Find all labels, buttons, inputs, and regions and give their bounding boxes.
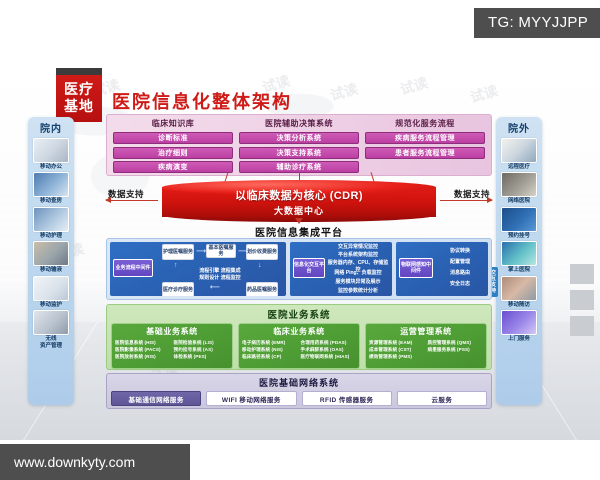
- list-item[interactable]: 医疗物联网系统 (HIAS): [301, 353, 357, 360]
- list-item[interactable]: 成本管理系统 (CST): [369, 346, 425, 353]
- decision-chip[interactable]: 治疗细则: [113, 147, 233, 159]
- online-hospital-icon: [501, 172, 537, 197]
- sidebar-item-label: 远程医疗: [499, 164, 539, 170]
- right-data-support-label: 数据支持: [454, 188, 490, 200]
- square: [570, 316, 594, 336]
- list-item[interactable]: 移动护理系统 (NIS): [242, 346, 298, 353]
- sidebar-item-mobile-office[interactable]: 移动办公: [31, 138, 71, 170]
- monitor-line: 网络 Ping、负载监控: [326, 270, 390, 277]
- iot-line: 安全日志: [434, 281, 486, 288]
- cdr-cylinder: 以临床数据为核心 (CDR) 大数据中心: [162, 180, 436, 222]
- group-heading: 临床业务系统: [242, 326, 356, 337]
- sidebar-item-mobile-rounds[interactable]: 移动查房: [31, 172, 71, 204]
- list-item[interactable]: 绩效管理系统 (PMS): [369, 353, 425, 360]
- nurse-care-icon: [33, 207, 69, 232]
- system-list-left: 医院信息系统 (HIS) 医院影像系统 (PACS) 医院放射系统 (RIS): [115, 339, 171, 360]
- right-panel-outside-hospital: 交互支持 院外 远程医疗 网络医院 预约挂号 掌上医院 移动随访: [496, 117, 542, 405]
- sidebar-item-online-hospital[interactable]: 网络医院: [499, 172, 539, 204]
- telemedicine-icon: [501, 138, 537, 163]
- decision-chip[interactable]: 决策分析系统: [239, 132, 359, 144]
- logo-badge: 医疗 基地: [56, 74, 102, 122]
- sidebar-item-label: 预约挂号: [499, 233, 539, 239]
- business-systems-layer: 医院业务系统 基础业务系统 医院信息系统 (HIS) 医院影像系统 (PACS)…: [106, 304, 492, 370]
- sidebar-item-mobile-nursing[interactable]: 移动护理: [31, 207, 71, 239]
- list-item[interactable]: 病患服务系统 (PSS): [428, 346, 484, 353]
- left-panel-inside-hospital: 院内 移动办公 移动查房 移动护理 移动输液 移动监护: [28, 117, 74, 405]
- process-middleware-box: 业务流程中间件 护理医嘱服务 基本医嘱服务 划价收费服务 药品医嘱服务 医疗诊疗…: [110, 242, 286, 296]
- decision-column-service-process: 规范化服务流程 疾病服务流程管理 患者服务流程管理: [365, 118, 485, 172]
- monitor-line: 服务模块异常及展示: [326, 279, 390, 286]
- badge-line-2: 基地: [64, 98, 94, 115]
- home-service-icon: [501, 310, 537, 335]
- list-item[interactable]: 手术麻醉系统 (OAS): [301, 346, 357, 353]
- group-basic-business-systems: 基础业务系统 医院信息系统 (HIS) 医院影像系统 (PACS) 医院放射系统…: [111, 323, 233, 369]
- sidebar-item-telemedicine[interactable]: 远程医疗: [499, 138, 539, 170]
- network-item-basic-communication[interactable]: 基础通信网络服务: [111, 391, 201, 406]
- sidebar-item-mobile-monitoring[interactable]: 移动监护: [31, 276, 71, 308]
- sidebar-item-label: 移动查房: [31, 198, 71, 204]
- network-infrastructure-layer: 医院基础网络系统 基础通信网络服务 WIFI 移动网络服务 RFID 传感器服务…: [106, 373, 492, 409]
- sidebar-item-appointment[interactable]: 预约挂号: [499, 207, 539, 239]
- appointment-icon: [501, 207, 537, 232]
- site-url-watermark: www.downkyty.com: [0, 444, 190, 480]
- decision-chip[interactable]: 诊断标准: [113, 132, 233, 144]
- column-heading: 临床知识库: [152, 118, 195, 129]
- sidebar-item-label: 掌上医院: [499, 267, 539, 273]
- monitoring-icon: [33, 276, 69, 301]
- group-operation-management-systems: 运营管理系统 资源管理系统 (EAM) 成本管理系统 (CST) 绩效管理系统 …: [365, 323, 487, 369]
- integration-platform-layer: 业务流程中间件 护理医嘱服务 基本医嘱服务 划价收费服务 药品医嘱服务 医疗诊疗…: [106, 238, 492, 300]
- arrow-down-icon: ↓: [258, 262, 262, 269]
- system-list-right: 医院检验系统 (LIS) 预约挂号系统 (AS) 体检系统 (PES): [174, 339, 230, 360]
- arrow-right-icon: ⟶: [196, 247, 206, 255]
- monitor-line: 交互异常情况监控: [326, 244, 390, 251]
- list-item[interactable]: 预约挂号系统 (AS): [174, 346, 230, 353]
- badge-line-1: 医疗: [64, 81, 94, 98]
- network-layer-title: 医院基础网络系统: [111, 376, 487, 389]
- square: [570, 290, 594, 310]
- system-list-right: 质控管理系统 (QMS) 病患服务系统 (PSS): [428, 339, 484, 360]
- sidebar-item-label: 移动监护: [31, 302, 71, 308]
- decision-chip[interactable]: 决策支持系统: [239, 147, 359, 159]
- cdr-title: 以临床数据为核心 (CDR): [162, 187, 436, 203]
- tablet-hand-icon: [33, 138, 69, 163]
- iot-line: 配置管理: [434, 259, 486, 266]
- sidebar-item-label: 移动办公: [31, 164, 71, 170]
- iot-line: 协议转换: [434, 248, 486, 255]
- list-item[interactable]: 资源管理系统 (EAM): [369, 339, 425, 346]
- list-item[interactable]: 医院放射系统 (RIS): [115, 353, 171, 360]
- sidebar-item-label: 移动护理: [31, 233, 71, 239]
- decision-chip[interactable]: 患者服务流程管理: [365, 147, 485, 159]
- system-list-right: 合理用药系统 (PDAS) 手术麻醉系统 (OAS) 医疗物联网系统 (HIAS…: [301, 339, 357, 360]
- column-heading: 医院辅助决策系统: [265, 118, 333, 129]
- list-item[interactable]: 体检系统 (PES): [174, 353, 230, 360]
- medical-treatment-service-node[interactable]: 医疗诊疗服务: [162, 282, 194, 296]
- sidebar-item-label: 上门服务: [499, 336, 539, 342]
- column-heading: 规范化服务流程: [395, 118, 455, 129]
- interaction-platform-box: 信息化交互平台 交互异常情况监控 平台系统架构监控 服务器内存、CPU、存储监控…: [290, 242, 392, 296]
- arrow-up-icon: ↑: [174, 262, 178, 269]
- group-clinical-business-systems: 临床业务系统 电子病历系统 (EMR) 移动护理系统 (NIS) 临床路径系统 …: [238, 323, 360, 369]
- basic-order-service-node[interactable]: 基本医嘱服务: [206, 244, 236, 258]
- business-process-middleware-chip[interactable]: 业务流程中间件: [113, 259, 153, 277]
- iot-line: 消息路由: [434, 270, 486, 277]
- group-heading: 运营管理系统: [369, 326, 483, 337]
- business-layer-title: 医院业务系统: [111, 307, 487, 321]
- decision-chip[interactable]: 疾病演变: [113, 161, 233, 173]
- wireless-asset-icon: [33, 310, 69, 335]
- network-item-rfid[interactable]: RFID 传感器服务: [302, 391, 392, 406]
- arrow-right-icon: ⟶: [238, 247, 248, 255]
- tg-watermark-tag: TG: MYYJJPP: [474, 8, 600, 38]
- list-item[interactable]: 电子病历系统 (EMR): [242, 339, 298, 346]
- list-item[interactable]: 医院信息系统 (HIS): [115, 339, 171, 346]
- left-data-support-label: 数据支持: [108, 188, 144, 200]
- slide-body: 试读 试读 试读 试读 试读 试读 试读 医疗 基地 医院信息化整体架构 院内 …: [0, 62, 600, 440]
- system-list-left: 资源管理系统 (EAM) 成本管理系统 (CST) 绩效管理系统 (PMS): [369, 339, 425, 360]
- sidebar-item-home-service[interactable]: 上门服务: [499, 310, 539, 342]
- decision-chip[interactable]: 疾病服务流程管理: [365, 132, 485, 144]
- arrow-left-icon: ⟵: [210, 283, 220, 291]
- sidebar-item-label-2: 资产管理: [31, 343, 71, 349]
- pricing-billing-service-node[interactable]: 划价收费服务: [246, 244, 278, 260]
- iot-sensing-middleware-chip[interactable]: 物联网感知中间件: [399, 258, 433, 278]
- mobile-hospital-icon: [501, 241, 537, 266]
- slide-canvas: TG: MYYJJPP 试读 试读 试读 试读 试读 试读 试读 医疗 基地 医…: [0, 0, 600, 480]
- left-data-arrow: [106, 200, 158, 201]
- infusion-icon: [33, 241, 69, 266]
- integration-platform-title: 医院信息集成平台: [106, 224, 492, 239]
- sidebar-item-label: 移动随访: [499, 302, 539, 308]
- sidebar-item-label: 无线: [31, 336, 71, 342]
- list-item[interactable]: 医院检验系统 (LIS): [174, 339, 230, 346]
- followup-icon: [501, 276, 537, 301]
- monitor-line: 监控参数统计分析: [326, 288, 390, 295]
- monitor-line: 平台系统架构监控: [326, 252, 390, 259]
- decision-column-knowledge: 临床知识库 诊断标准 治疗细则 疾病演变: [113, 118, 233, 172]
- network-item-cloud[interactable]: 云服务: [397, 391, 487, 406]
- network-item-wifi[interactable]: WIFI 移动网络服务: [206, 391, 296, 406]
- cdr-subtitle: 大数据中心: [162, 204, 436, 217]
- list-item[interactable]: 临床路径系统 (CP): [242, 353, 298, 360]
- list-item[interactable]: 合理用药系统 (PDAS): [301, 339, 357, 346]
- right-data-arrow: [440, 200, 492, 201]
- square: [570, 264, 594, 284]
- sidebar-item-wireless-asset[interactable]: 无线 资产管理: [31, 310, 71, 350]
- sidebar-item-mobile-hospital[interactable]: 掌上医院: [499, 241, 539, 273]
- list-item[interactable]: 质控管理系统 (QMS): [428, 339, 484, 346]
- sidebar-item-followup[interactable]: 移动随访: [499, 276, 539, 308]
- pharmacy-order-service-node[interactable]: 药品医嘱服务: [246, 282, 278, 296]
- feature-line-1: 流程引擎 流程集成: [198, 268, 242, 275]
- feature-line-2: 规则设计 流程监控: [198, 275, 242, 282]
- sidebar-item-label: 移动输液: [31, 267, 71, 273]
- iot-middleware-box: 物联网感知中间件 协议转换 配置管理 消息路由 安全日志: [396, 242, 488, 296]
- nursing-order-service-node[interactable]: 护理医嘱服务: [162, 244, 194, 260]
- decision-support-layer: 临床知识库 诊断标准 治疗细则 疾病演变 医院辅助决策系统 决策分析系统 决策支…: [106, 114, 492, 176]
- sidebar-item-mobile-infusion[interactable]: 移动输液: [31, 241, 71, 273]
- architecture-core: 临床知识库 诊断标准 治疗细则 疾病演变 医院辅助决策系统 决策分析系统 决策支…: [106, 114, 492, 409]
- decision-column-dss: 医院辅助决策系统 决策分析系统 决策支持系统 辅助诊疗系统: [239, 118, 359, 172]
- sidebar-item-label: 网络医院: [499, 198, 539, 204]
- list-item[interactable]: 医院影像系统 (PACS): [115, 346, 171, 353]
- information-interaction-platform-chip[interactable]: 信息化交互平台: [293, 258, 325, 278]
- right-panel-caption: 院外: [508, 120, 530, 135]
- left-panel-caption: 院内: [40, 120, 62, 135]
- system-list-left: 电子病历系统 (EMR) 移动护理系统 (NIS) 临床路径系统 (CP): [242, 339, 298, 360]
- group-heading: 基础业务系统: [115, 326, 229, 337]
- page-title: 医院信息化整体架构: [112, 88, 292, 114]
- doctor-rounds-icon: [33, 172, 69, 197]
